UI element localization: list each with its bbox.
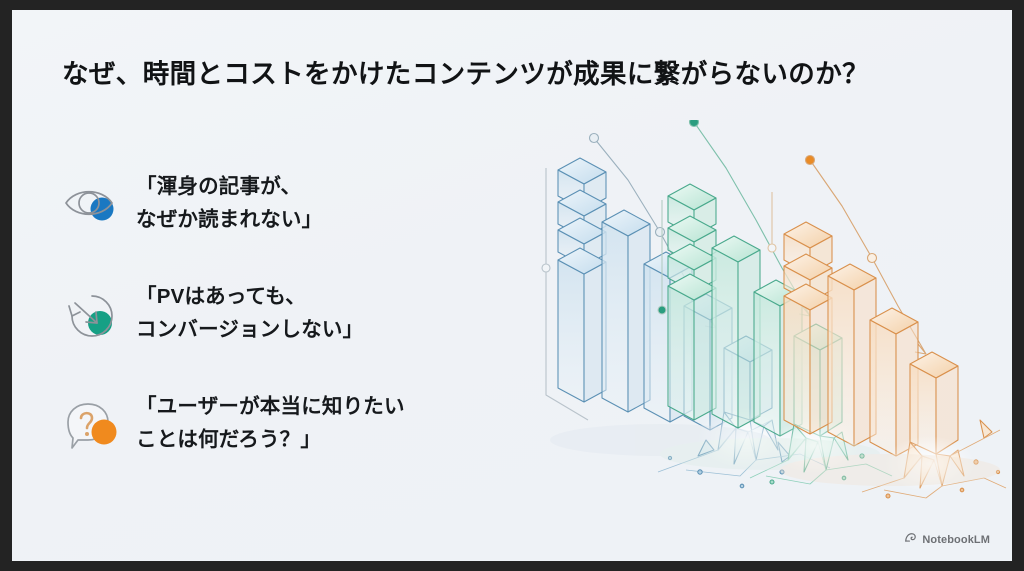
list-item-text: 「ユーザーが本当に知りたい ことは何だろう？」 bbox=[136, 388, 405, 456]
notebooklm-spiral-icon bbox=[904, 531, 917, 549]
page-title: なぜ、時間とコストをかけたコンテンツが成果に繋がらないのか？ bbox=[62, 52, 962, 91]
shattering-bar-chart-illustration bbox=[510, 120, 1010, 540]
list-item-line: 「PVはあっても、 bbox=[136, 280, 363, 313]
list-item-text: 「PVはあっても、 コンバージョンしない」 bbox=[136, 278, 363, 346]
slide-canvas: なぜ、時間とコストをかけたコンテンツが成果に繋がらないのか？ 「渾身の記事が、 … bbox=[12, 10, 1012, 561]
list-item: 「PVはあっても、 コンバージョンしない」 bbox=[62, 278, 532, 350]
question-speech-bubble-icon bbox=[62, 396, 122, 454]
notebooklm-label: NotebookLM bbox=[922, 534, 990, 546]
list-item: 「ユーザーが本当に知りたい ことは何だろう？」 bbox=[62, 388, 532, 460]
pain-point-list: 「渾身の記事が、 なぜか読まれない」 「PVはあっても、 bbox=[62, 168, 532, 498]
list-item-text: 「渾身の記事が、 なぜか読まれない」 bbox=[136, 168, 322, 236]
list-item-line: なぜか読まれない」 bbox=[136, 203, 322, 236]
eye-icon bbox=[62, 176, 122, 234]
list-item-line: ことは何だろう？」 bbox=[136, 423, 405, 456]
slide-frame: なぜ、時間とコストをかけたコンテンツが成果に繋がらないのか？ 「渾身の記事が、 … bbox=[0, 0, 1024, 571]
list-item-line: 「ユーザーが本当に知りたい bbox=[136, 390, 405, 423]
notebooklm-watermark: NotebookLM bbox=[904, 531, 990, 549]
list-item-line: 「渾身の記事が、 bbox=[136, 170, 322, 203]
list-item: 「渾身の記事が、 なぜか読まれない」 bbox=[62, 168, 532, 240]
conversion-arrow-icon bbox=[62, 286, 122, 344]
list-item-line: コンバージョンしない」 bbox=[136, 313, 363, 346]
